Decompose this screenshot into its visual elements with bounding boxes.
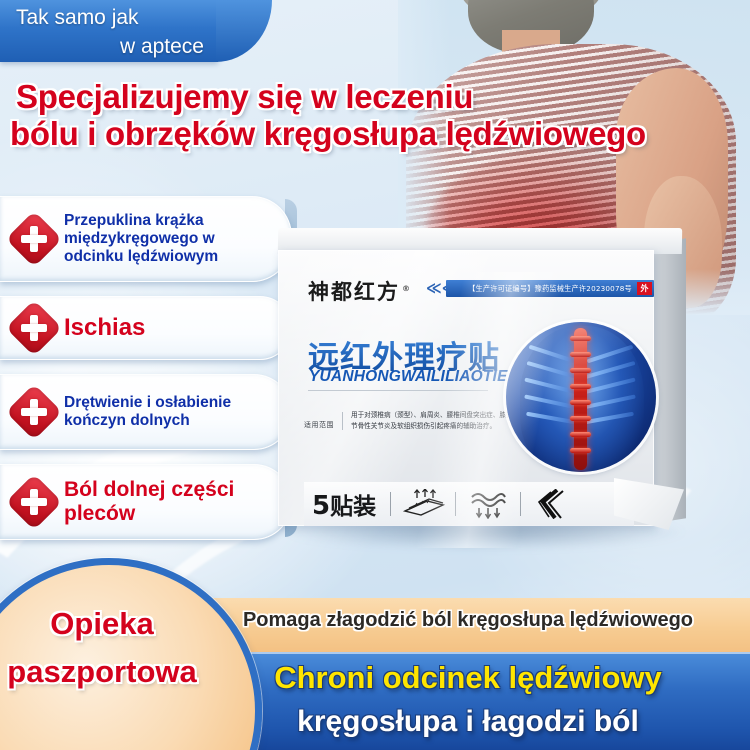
product-brand-text: 神都红方 xyxy=(308,280,400,304)
usage-description: 用于对颈椎病（颈型）、肩周炎、腰椎间盘突出症、膝关节骨性关节炎及软组织损伤引起疼… xyxy=(351,410,514,432)
feature-item-numbness: Drętwienie i osłabienie kończyn dolnych xyxy=(0,374,292,450)
feature-item-hernia: Przepuklina krążka międzykręgowego w odc… xyxy=(0,196,292,282)
passport-care-text: Opieka paszportowa xyxy=(0,600,248,696)
pack-info-bar: 5贴装 xyxy=(304,482,634,526)
headline-line-2: bólu i obrzęków kręgosłupa lędźwiowego xyxy=(0,115,750,152)
product-name-pinyin: YUANHONGWAILILIAOTIE xyxy=(309,368,508,386)
pack-count: 5贴装 xyxy=(304,487,390,521)
usage-label: 适用范围 xyxy=(304,410,334,432)
passport-care-line-2: paszportowa xyxy=(0,648,248,696)
usage-section: 适用范围 用于对颈椎病（颈型）、肩周炎、腰椎间盘突出症、膝关节骨性关节炎及软组织… xyxy=(304,410,514,432)
feature-label-sciatica: Ischias xyxy=(64,314,169,342)
benefit-strip-text: Pomaga złagodzić ból kręgosłupa lędźwiow… xyxy=(186,606,750,634)
trademark-icon: ® xyxy=(402,284,412,293)
pack-count-unit: 贴装 xyxy=(330,494,376,520)
product-brand: 神都红方® xyxy=(308,276,412,306)
feature-item-sciatica: Ischias xyxy=(0,296,292,360)
ribbon-line-2: w aptece xyxy=(0,32,204,61)
pharmacy-ribbon-text: Tak samo jak w aptece xyxy=(0,0,218,62)
pack-divider xyxy=(390,492,391,516)
headline-line-1: Specjalizujemy się w leczeniu xyxy=(0,78,750,115)
feature-item-lowback-pain: Ból dolnej części pleców xyxy=(0,464,292,540)
product-box: 神都红方® ≪≪ 【生产许可证编号】豫药监械生产许20230078号 外 远红外… xyxy=(262,228,692,558)
license-number-text: 【生产许可证编号】豫药监械生产许20230078号 xyxy=(468,284,632,294)
pack-count-number: 5 xyxy=(312,491,330,521)
claim-panel-text: Chroni odcinek lędźwiowy kręgosłupa i ła… xyxy=(186,655,750,743)
feature-label-numbness: Drętwienie i osłabienie kończyn dolnych xyxy=(64,394,291,431)
breathable-patch-icon xyxy=(397,489,449,519)
spine-anatomy-icon xyxy=(506,322,656,472)
product-box-side-panel xyxy=(650,238,686,524)
joint-flex-icon xyxy=(527,489,579,519)
claim-line-2: kręgosłupa i łagodzi ból xyxy=(186,701,750,743)
claim-line-1: Chroni odcinek lędźwiowy xyxy=(186,655,750,701)
pack-divider xyxy=(455,492,456,516)
advertisement-banner: Tak samo jak w aptece Specjalizujemy się… xyxy=(0,0,750,750)
feature-label-hernia: Przepuklina krążka międzykręgowego w odc… xyxy=(64,212,291,267)
feature-label-lowback-pain: Ból dolnej części pleców xyxy=(64,478,291,527)
pack-divider xyxy=(520,492,521,516)
spine-circle-gloss xyxy=(506,322,656,472)
red-cross-icon xyxy=(6,211,63,268)
passport-care-line-1: Opieka xyxy=(0,600,248,648)
ribbon-line-1: Tak samo jak xyxy=(0,3,204,32)
red-cross-icon xyxy=(6,474,63,531)
red-cross-icon xyxy=(6,384,63,441)
feature-list: Przepuklina krążka międzykręgowego w odc… xyxy=(0,196,292,554)
product-divider xyxy=(308,390,488,391)
main-headline: Specjalizujemy się w leczeniu bólu i obr… xyxy=(0,78,750,152)
external-use-badge: 外 xyxy=(637,282,652,295)
heat-wave-icon xyxy=(462,489,514,519)
red-cross-icon xyxy=(6,300,63,357)
license-band: 【生产许可证编号】豫药监械生产许20230078号 外 xyxy=(446,280,654,297)
usage-separator xyxy=(342,412,343,430)
product-box-front-panel: 神都红方® ≪≪ 【生产许可证编号】豫药监械生产许20230078号 外 远红外… xyxy=(278,250,654,526)
